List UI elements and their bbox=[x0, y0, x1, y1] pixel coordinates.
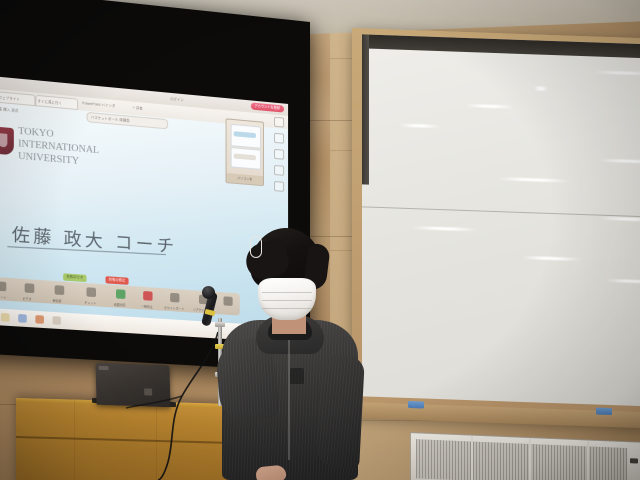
heater-grille bbox=[416, 439, 627, 480]
toolbar-label: 参加者 bbox=[52, 298, 61, 303]
sharing-status-badge: 共有中です bbox=[63, 273, 86, 282]
slide-side-panel: パソコンを bbox=[226, 118, 264, 186]
browser-icon[interactable] bbox=[18, 314, 27, 323]
account-register-button[interactable]: アカウントを登録 bbox=[250, 102, 284, 112]
menu-row: 表示 編集 挿入 書式 bbox=[0, 105, 18, 113]
explorer-icon[interactable] bbox=[1, 313, 10, 322]
whiteboard-top-track bbox=[362, 34, 640, 58]
panel-footer-label: パソコンを bbox=[227, 173, 263, 185]
right-arm bbox=[315, 355, 365, 469]
toolbar-label: ミュート bbox=[0, 295, 7, 300]
participants-icon[interactable] bbox=[55, 285, 65, 295]
toolbar-label: 画面共有 bbox=[114, 302, 126, 307]
toolbar-label: チャット bbox=[84, 301, 96, 306]
rail-icon[interactable] bbox=[274, 117, 284, 128]
university-line-1: TOKYO bbox=[18, 126, 53, 139]
chat-icon[interactable] bbox=[87, 287, 97, 297]
pause-icon[interactable] bbox=[143, 291, 152, 301]
whiteboard bbox=[352, 28, 640, 426]
whiteboard-eraser[interactable] bbox=[408, 401, 424, 409]
mail-icon[interactable] bbox=[35, 315, 44, 324]
mask-strap bbox=[250, 236, 262, 258]
camera-icon[interactable] bbox=[25, 283, 35, 293]
lecture-hall-scene: ログイン アカウントを登録 バスケットボール 体験会 検索 最近のウェブサイト … bbox=[0, 0, 640, 480]
rail-icon[interactable] bbox=[274, 133, 284, 144]
slide-icon-rail bbox=[274, 117, 285, 200]
presenter bbox=[222, 228, 358, 480]
whiteboard-icon[interactable] bbox=[170, 293, 179, 303]
rail-icon[interactable] bbox=[274, 181, 284, 192]
toolbar-label: ビデオ bbox=[22, 297, 31, 302]
toolbar-label: 一時停止 bbox=[141, 304, 153, 309]
laptop-logo bbox=[144, 388, 152, 395]
zoom-icon[interactable] bbox=[52, 316, 61, 325]
face-mask bbox=[258, 278, 316, 320]
microphone-icon[interactable] bbox=[0, 281, 6, 291]
stop-share-button[interactable]: 共有の停止 bbox=[105, 276, 128, 285]
share-screen-icon[interactable] bbox=[116, 289, 125, 299]
tab-label[interactable]: + 共有 bbox=[133, 105, 143, 111]
browser-login-label[interactable]: ログイン bbox=[170, 96, 184, 102]
rail-icon[interactable] bbox=[274, 149, 284, 160]
hoodie-zipper bbox=[288, 340, 290, 460]
whiteboard-left-rail bbox=[362, 34, 369, 184]
toolbar-label: ホワイトボード bbox=[164, 306, 184, 311]
heater-control-knob[interactable] bbox=[630, 458, 638, 463]
tiu-crest-icon bbox=[0, 126, 14, 155]
rail-icon[interactable] bbox=[274, 165, 284, 176]
whiteboard-eraser[interactable] bbox=[596, 408, 612, 416]
laptop[interactable] bbox=[95, 363, 170, 408]
hoodie-pocket bbox=[290, 368, 304, 384]
hand bbox=[255, 464, 287, 480]
laptop-hinge bbox=[99, 366, 109, 370]
whiteboard-surface bbox=[362, 34, 640, 406]
